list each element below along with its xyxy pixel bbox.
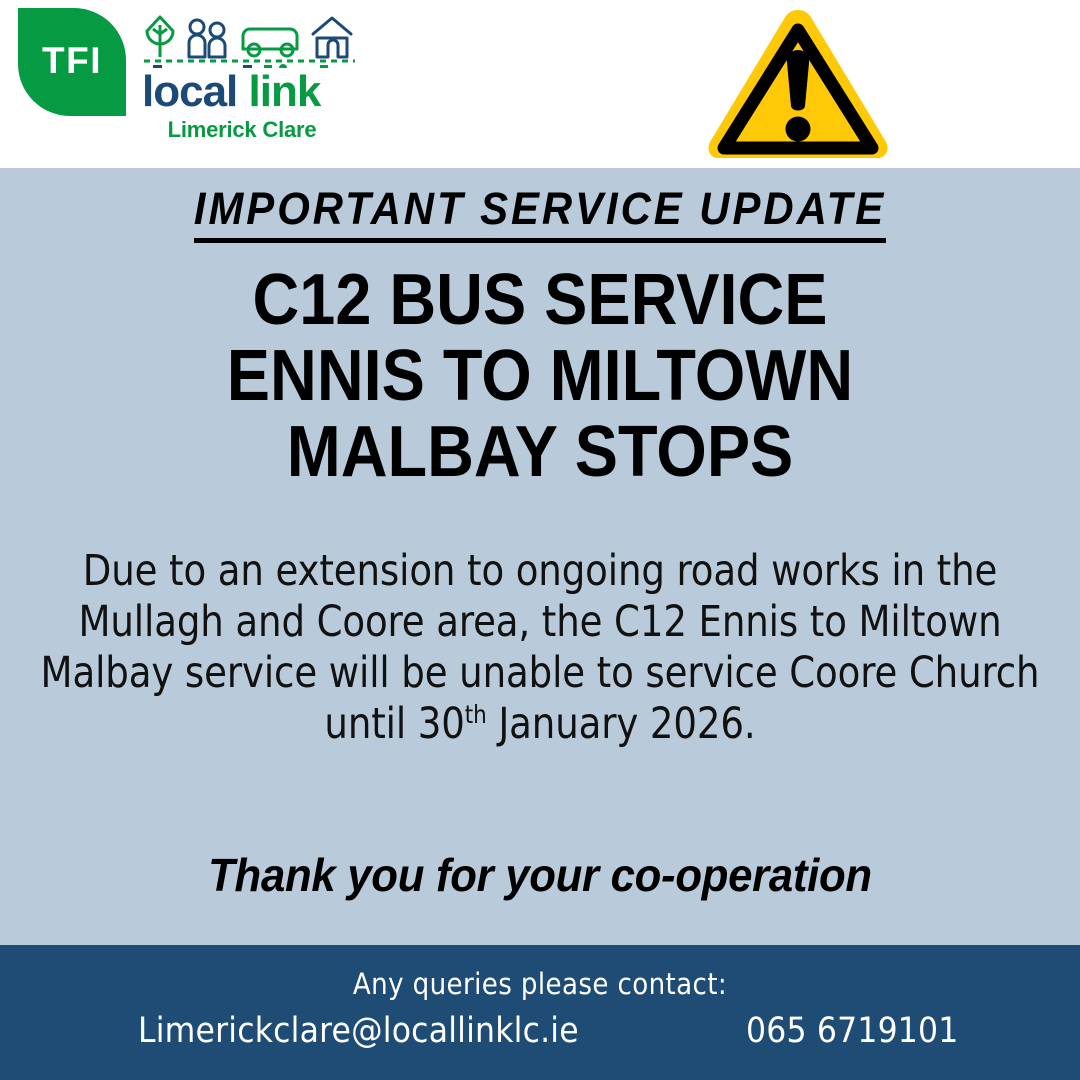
local-link-icon-row: [142, 12, 357, 68]
tree-icon: [147, 17, 173, 57]
contact-prompt: Any queries please contact:: [0, 967, 1080, 1001]
thank-you-message: Thank you for your co-operation: [27, 848, 1053, 902]
headline-line-1: C12 BUS SERVICE: [54, 262, 1026, 338]
local-link-wordmark: local link: [142, 70, 357, 113]
local-link-wordmark-block: local link Limerick Clare: [142, 8, 357, 143]
body-ordinal-suffix: th: [465, 700, 487, 729]
warning-triangle-icon: [700, 2, 896, 166]
wordmark-local: local: [142, 67, 237, 116]
bus-icon: [243, 29, 297, 56]
service-update-poster: TFI: [0, 0, 1080, 1080]
people-icon: [189, 20, 225, 57]
tfi-logo-label: TFI: [42, 42, 102, 79]
headline-line-3: MALBAY STOPS: [54, 414, 1026, 490]
important-service-update-title: IMPORTANT SERVICE UPDATE: [38, 183, 1042, 235]
header-band: TFI: [0, 0, 1080, 168]
wordmark-link: link: [249, 67, 321, 116]
main-content: IMPORTANT SERVICE UPDATE C12 BUS SERVICE…: [0, 168, 1080, 945]
headline: C12 BUS SERVICE ENNIS TO MILTOWN MALBAY …: [54, 262, 1026, 490]
local-link-region-label: Limerick Clare: [142, 117, 342, 143]
tfi-leaf-logo-icon: TFI: [18, 8, 126, 116]
house-icon: [313, 18, 351, 57]
contact-email[interactable]: Limerickclare@locallinklc.ie: [138, 1011, 579, 1051]
headline-line-2: ENNIS TO MILTOWN: [54, 338, 1026, 414]
tfi-local-link-logo: TFI: [18, 8, 357, 143]
contact-phone[interactable]: 065 6719101: [746, 1011, 959, 1051]
body-paragraph: Due to an extension to ongoing road work…: [34, 546, 1047, 750]
body-text-tail: January 2026.: [487, 700, 756, 749]
update-title-text: IMPORTANT SERVICE UPDATE: [194, 183, 886, 243]
contact-footer-band: Any queries please contact: Limerickclar…: [0, 945, 1080, 1080]
contact-details-row: Limerickclare@locallinklc.ie 065 6719101: [0, 1011, 1080, 1061]
